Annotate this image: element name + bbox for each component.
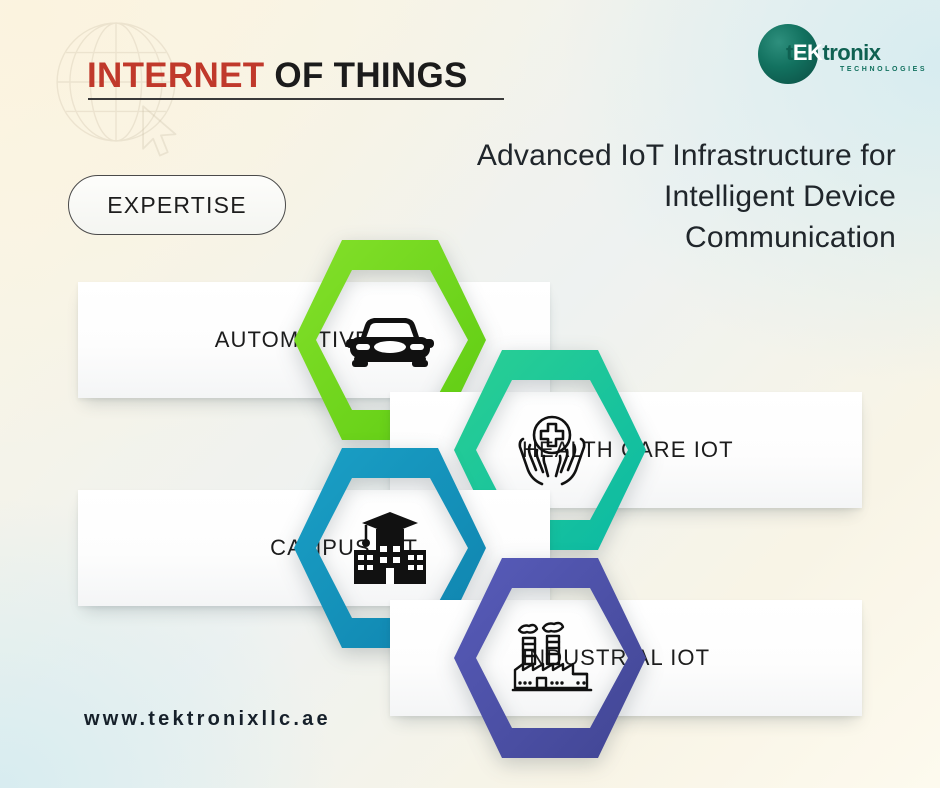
title-highlight: INTERNET (87, 56, 264, 95)
logo-wordmark-prefix: t (786, 40, 793, 65)
title-underline (88, 98, 504, 100)
hands-medical-cross-icon (500, 406, 604, 494)
infographic-canvas: INTERNET OF THINGS tEKtronix TECHNOLOGIE… (0, 0, 940, 788)
website-url[interactable]: www.tektronixllc.ae (84, 708, 331, 731)
factory-icon (500, 614, 604, 702)
expertise-badge[interactable]: EXPERTISE (68, 175, 286, 235)
logo-wordmark-mark: EK (793, 40, 823, 65)
page-title: INTERNET OF THINGS (87, 56, 468, 96)
logo-subtitle: TECHNOLOGIES (840, 66, 927, 73)
logo-wordmark: tEKtronix (786, 42, 881, 64)
cursor-arrow-watermark-icon (138, 104, 184, 160)
logo-wordmark-suffix: tronix (822, 40, 880, 65)
school-building-icon (332, 502, 448, 594)
title-rest: OF THINGS (264, 56, 467, 95)
headline: Advanced IoT Infrastructure for Intellig… (476, 136, 896, 258)
brand-logo[interactable]: tEKtronix TECHNOLOGIES (758, 24, 918, 84)
car-icon (332, 296, 448, 384)
expertise-label: EXPERTISE (107, 192, 246, 219)
